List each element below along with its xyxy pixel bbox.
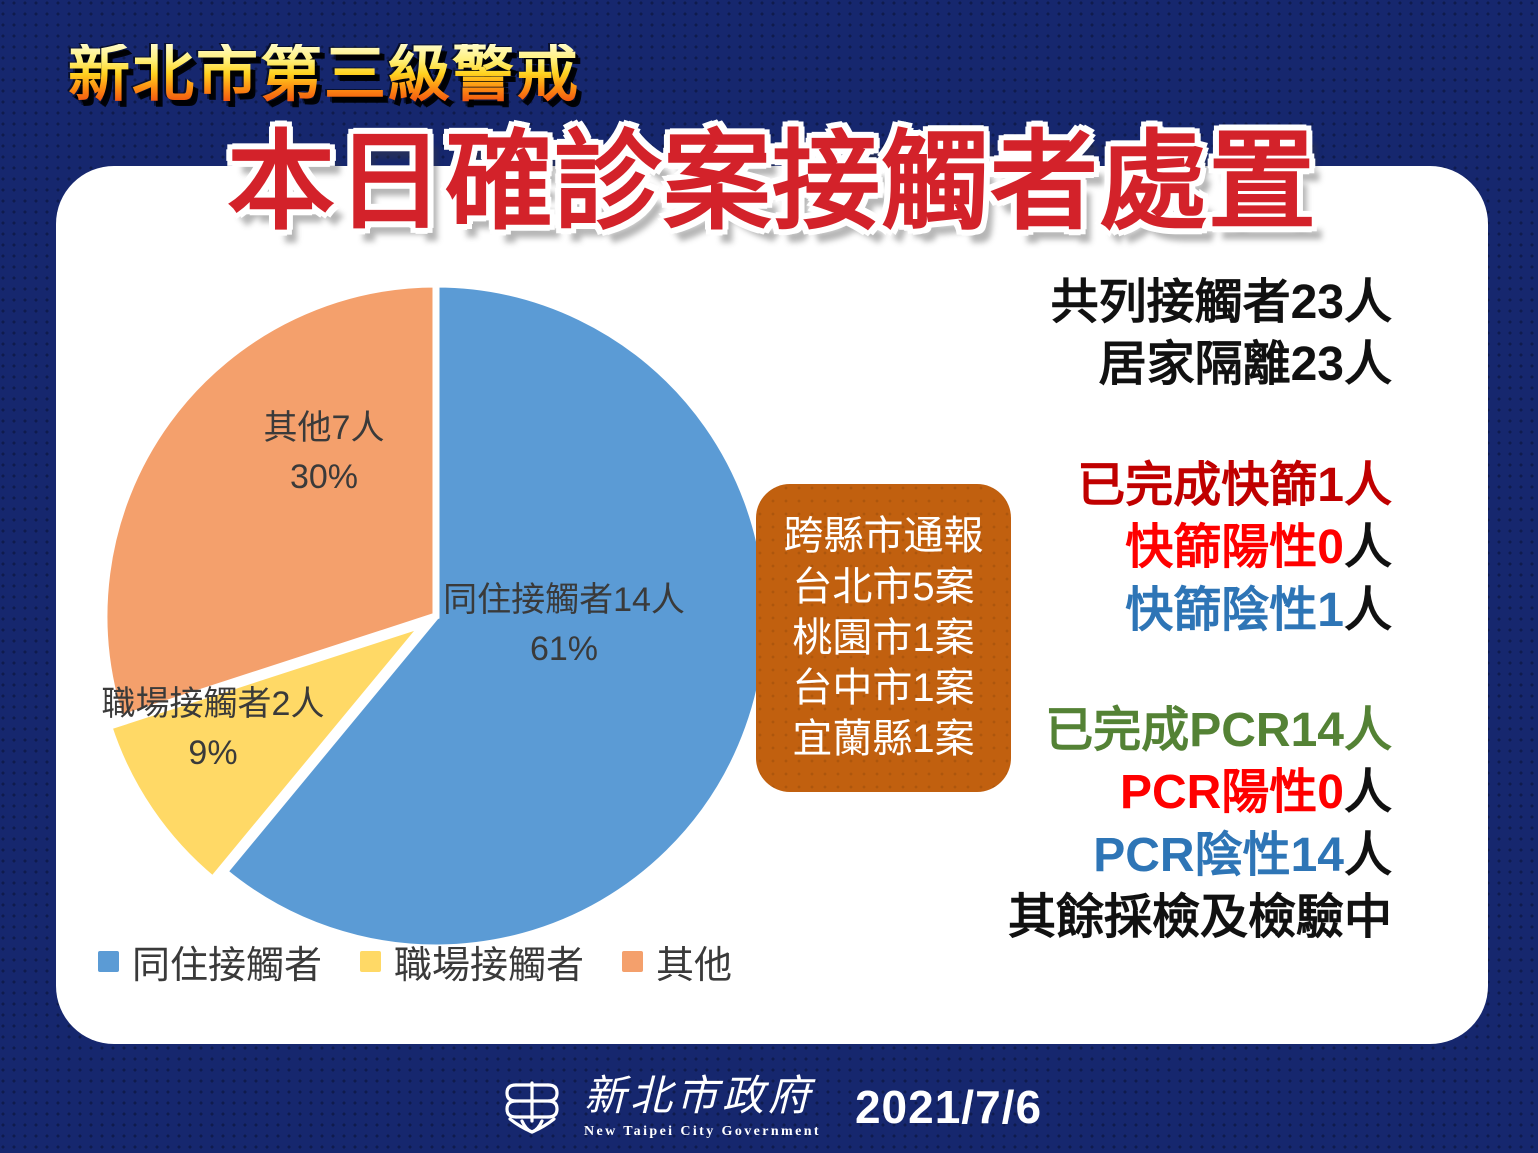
report-date: 2021/7/6 [855, 1080, 1042, 1134]
legend-item-workplace: 職場接觸者 [360, 934, 584, 989]
legend-swatch-cohabitant-icon [98, 951, 119, 972]
legend-swatch-workplace-icon [360, 951, 381, 972]
statistics-panel: 共列接觸者23人 居家隔離23人 已完成快篩1人 快篩陽性0人 快篩陰性1人 已… [912, 272, 1392, 950]
pie-label-workplace: 職場接觸者2人 9% [68, 680, 358, 779]
stats-spacer-2 [912, 642, 1392, 700]
legend-item-cohabitant: 同住接觸者 [98, 934, 322, 989]
stat-rapid-negative-unit: 人 [1344, 584, 1392, 637]
stat-pcr-completed: 已完成PCR14人 [912, 700, 1392, 762]
pie-label-cohabitant-percent: 61% [414, 625, 714, 674]
page-title: 本日確診案接觸者處置 [56, 128, 1488, 236]
pie-label-workplace-percent: 9% [68, 729, 358, 778]
legend-label-workplace: 職場接觸者 [394, 934, 584, 989]
stat-rapid-positive: 快篩陽性0人 [912, 517, 1392, 579]
gov-logo-block: 新北市政府 New Taipei City Government [496, 1071, 821, 1143]
legend-label-other: 其他 [656, 934, 732, 989]
chart-legend: 同住接觸者 職場接觸者 其他 [98, 934, 732, 989]
legend-swatch-other-icon [622, 951, 643, 972]
legend-item-other: 其他 [622, 934, 732, 989]
pie-label-other-percent: 30% [214, 453, 434, 502]
pie-label-other: 其他7人 30% [214, 404, 434, 503]
stat-pcr-positive: PCR陽性0人 [912, 762, 1392, 824]
stat-pcr-footnote: 其餘採檢及檢驗中 [912, 887, 1392, 949]
stat-pcr-positive-value: PCR陽性0 [1120, 766, 1344, 819]
pie-label-workplace-count: 職場接觸者2人 [68, 680, 358, 729]
content-card: 本日確診案接觸者處置 同住接觸者14人 61% 其他7人 30% 職場接觸者2人… [56, 166, 1488, 1044]
stat-rapid-positive-value: 快篩陽性0 [1125, 521, 1344, 574]
pie-label-other-count: 其他7人 [214, 404, 434, 453]
stat-pcr-positive-unit: 人 [1344, 766, 1392, 819]
stat-pcr-negative: PCR陰性14人 [912, 825, 1392, 887]
stat-rapid-negative-value: 快篩陰性1 [1125, 584, 1344, 637]
stat-total-contacts: 共列接觸者23人 [912, 272, 1392, 334]
new-taipei-city-logo-icon [496, 1071, 568, 1143]
stats-spacer-1 [912, 397, 1392, 455]
stat-rapid-positive-unit: 人 [1344, 521, 1392, 574]
poster-background: 新北市第三級警戒 本日確診案接觸者處置 同住接觸者14人 61% 其他7人 30… [0, 0, 1538, 1153]
alert-level-banner: 新北市第三級警戒 [68, 44, 580, 106]
pie-label-cohabitant-count: 同住接觸者14人 [414, 576, 714, 625]
stat-pcr-negative-unit: 人 [1344, 829, 1392, 882]
footer: 新北市政府 New Taipei City Government 2021/7/… [0, 1071, 1538, 1143]
gov-name-block: 新北市政府 New Taipei City Government [584, 1076, 821, 1139]
gov-name-en: New Taipei City Government [584, 1125, 821, 1139]
stat-rapid-completed: 已完成快篩1人 [912, 455, 1392, 517]
legend-label-cohabitant: 同住接觸者 [132, 934, 322, 989]
pie-chart: 同住接觸者14人 61% 其他7人 30% 職場接觸者2人 9% [96, 276, 776, 956]
stat-pcr-negative-value: PCR陰性14 [1093, 829, 1344, 882]
gov-name-zh: 新北市政府 [584, 1076, 821, 1118]
stat-rapid-negative: 快篩陰性1人 [912, 580, 1392, 642]
stat-home-isolation: 居家隔離23人 [912, 334, 1392, 396]
pie-label-cohabitant: 同住接觸者14人 61% [414, 576, 714, 675]
